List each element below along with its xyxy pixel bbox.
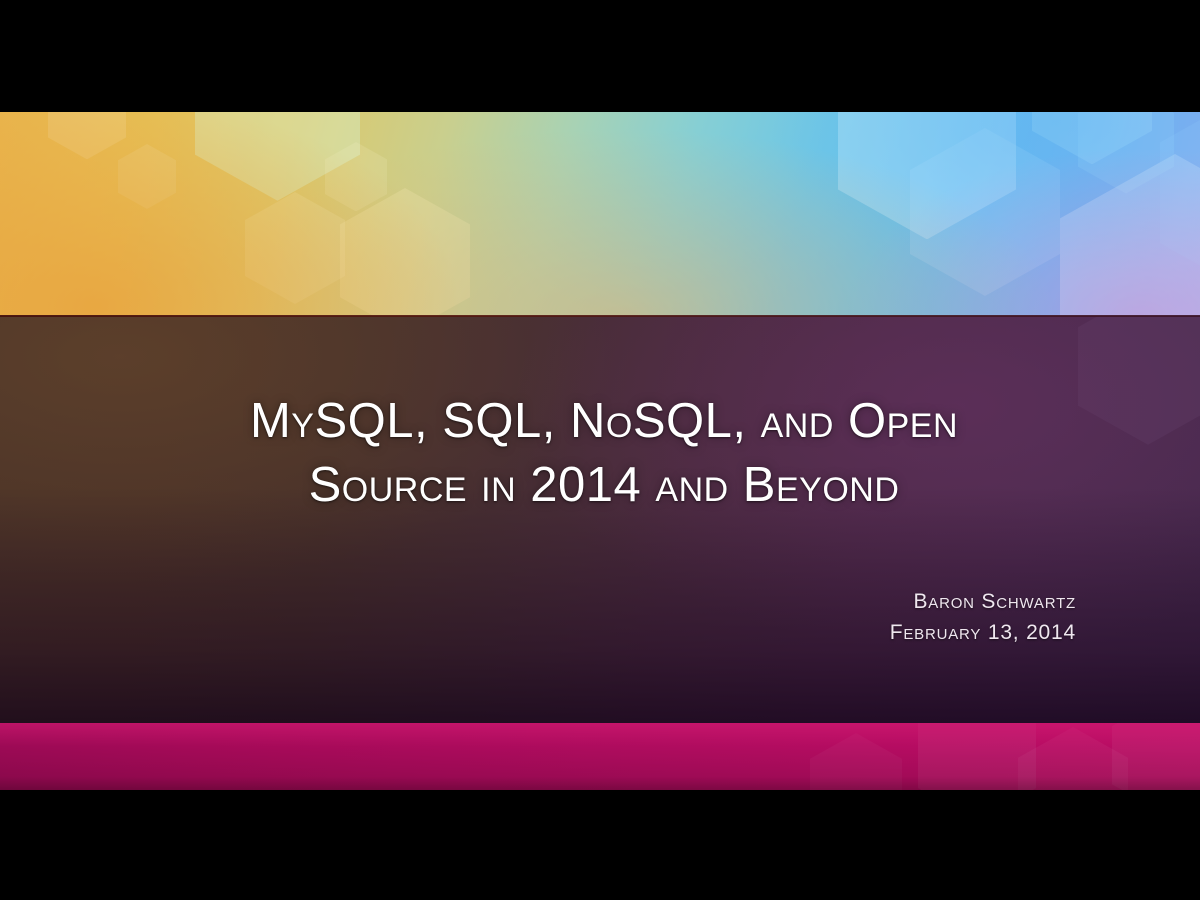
presentation-date: February 13, 2014	[0, 617, 1076, 648]
presenter-name: Baron Schwartz	[0, 586, 1076, 617]
band-divider-line	[0, 315, 1200, 317]
mid-band-shading	[0, 316, 1200, 723]
slide-title-line-2: Source in 2014 and Beyond	[0, 453, 1200, 517]
slide-byline: Baron Schwartz February 13, 2014	[0, 586, 1200, 648]
mid-gradient-band	[0, 316, 1200, 723]
accent-magenta-band	[0, 723, 1200, 790]
top-gradient-band	[0, 112, 1200, 316]
letterbox-top-bar	[0, 0, 1200, 112]
slide-title-line-1: MySQL, SQL, NoSQL, and Open	[0, 389, 1200, 453]
slide-canvas: MySQL, SQL, NoSQL, and Open Source in 20…	[0, 112, 1200, 790]
top-band-color-wash	[0, 112, 1200, 316]
slide-title: MySQL, SQL, NoSQL, and Open Source in 20…	[0, 389, 1200, 517]
accent-band-shading	[0, 723, 1200, 790]
letterbox-bottom-bar	[0, 790, 1200, 900]
slide-frame: MySQL, SQL, NoSQL, and Open Source in 20…	[0, 0, 1200, 900]
